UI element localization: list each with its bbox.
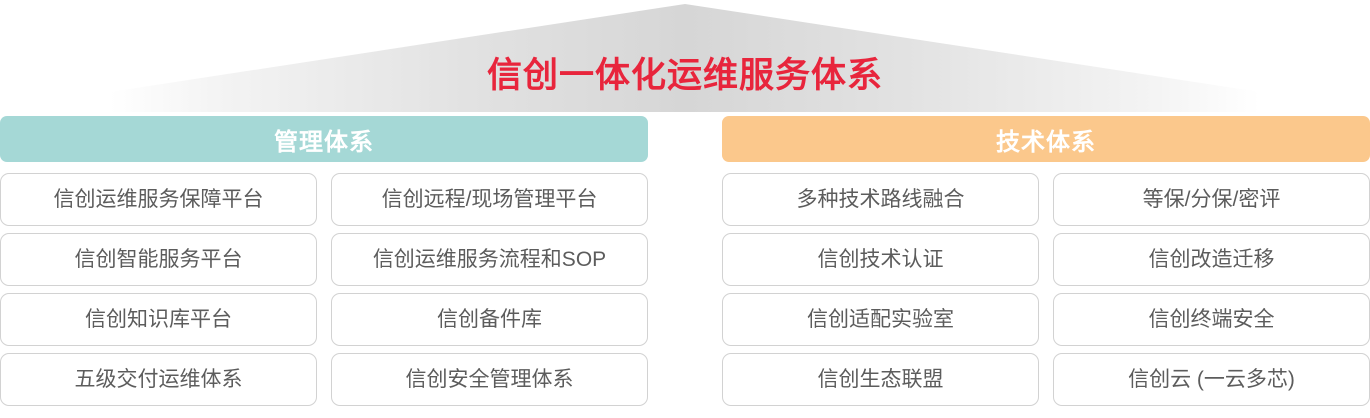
panel-header-technology: 技术体系 xyxy=(722,116,1370,162)
page-title: 信创一体化运维服务体系 xyxy=(0,55,1370,97)
cell-item[interactable]: 等保/分保/密评 xyxy=(1053,173,1370,226)
grid-technology: 多种技术路线融合 等保/分保/密评 信创技术认证 信创改造迁移 信创适配实验室 … xyxy=(722,173,1370,406)
cell-item[interactable]: 信创运维服务保障平台 xyxy=(0,173,317,226)
cell-item[interactable]: 多种技术路线融合 xyxy=(722,173,1039,226)
cell-item[interactable]: 信创云 (一云多芯) xyxy=(1053,353,1370,406)
cell-item[interactable]: 信创智能服务平台 xyxy=(0,233,317,286)
grid-management: 信创运维服务保障平台 信创远程/现场管理平台 信创智能服务平台 信创运维服务流程… xyxy=(0,173,648,406)
cell-item[interactable]: 信创改造迁移 xyxy=(1053,233,1370,286)
cell-item[interactable]: 信创运维服务流程和SOP xyxy=(331,233,648,286)
cell-item[interactable]: 信创终端安全 xyxy=(1053,293,1370,346)
cell-item[interactable]: 信创技术认证 xyxy=(722,233,1039,286)
cell-item[interactable]: 五级交付运维体系 xyxy=(0,353,317,406)
cell-item[interactable]: 信创适配实验室 xyxy=(722,293,1039,346)
cell-item[interactable]: 信创安全管理体系 xyxy=(331,353,648,406)
diagram-canvas: 信创一体化运维服务体系 管理体系 信创运维服务保障平台 信创远程/现场管理平台 … xyxy=(0,0,1370,418)
panel-management: 管理体系 信创运维服务保障平台 信创远程/现场管理平台 信创智能服务平台 信创运… xyxy=(0,116,648,418)
panel-header-management: 管理体系 xyxy=(0,116,648,162)
panels-container: 管理体系 信创运维服务保障平台 信创远程/现场管理平台 信创智能服务平台 信创运… xyxy=(0,116,1370,418)
panel-technology: 技术体系 多种技术路线融合 等保/分保/密评 信创技术认证 信创改造迁移 信创适… xyxy=(722,116,1370,418)
cell-item[interactable]: 信创远程/现场管理平台 xyxy=(331,173,648,226)
cell-item[interactable]: 信创生态联盟 xyxy=(722,353,1039,406)
cell-item[interactable]: 信创备件库 xyxy=(331,293,648,346)
cell-item[interactable]: 信创知识库平台 xyxy=(0,293,317,346)
